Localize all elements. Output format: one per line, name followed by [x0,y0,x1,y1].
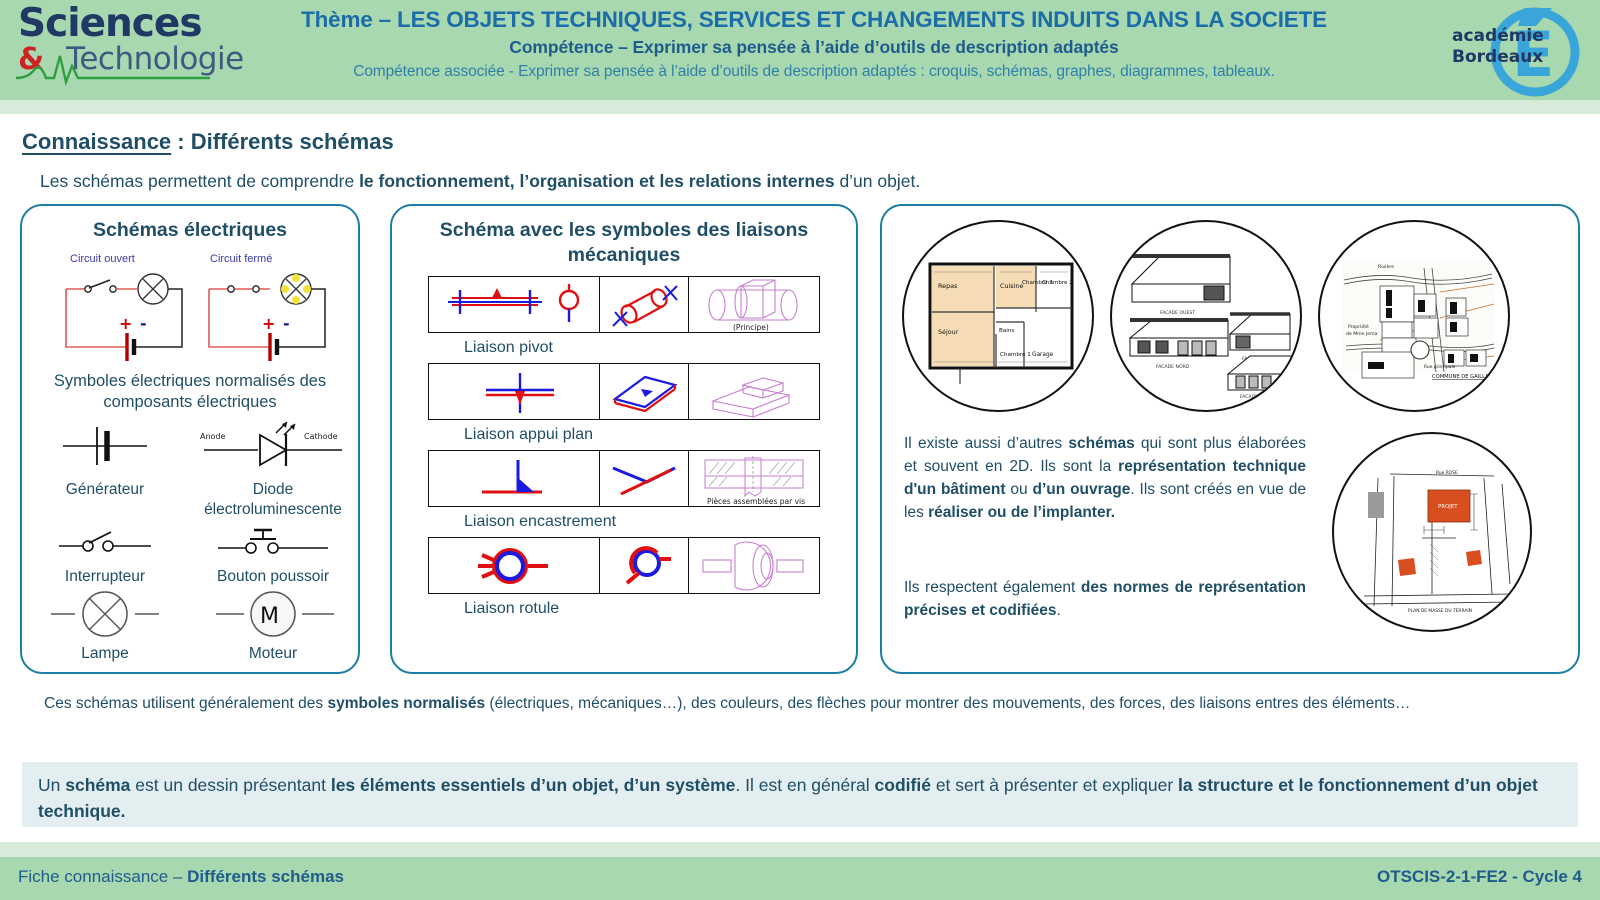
definition-box: Un schéma est un dessin présentant les é… [22,762,1578,827]
theme-prefix: Thème – [301,7,397,32]
def-t1: Un [38,775,65,795]
symbol-moteur: M Moteur [188,587,358,664]
rotule-symbol-icon [430,539,598,593]
footer-left-normal: Fiche connaissance – [18,867,187,886]
page-header: Sciences & Technologie Thème – LES OBJET… [0,0,1600,100]
room-chambre2: Chambre 2 [1042,280,1073,286]
svg-text:FACADE OUEST: FACADE OUEST [1160,310,1195,316]
note-t2: (électriques, mécaniques…), des couleurs… [485,695,1410,712]
liaison-rotule-perspective-cell [600,538,689,593]
note-t1: Ces schémas utilisent généralement des [44,695,327,712]
logo-sciences-label: Sciences [18,1,202,46]
rotule-perspective-icon [601,539,687,593]
intro-part-1: Les schémas permettent de comprendre [40,171,359,191]
note-b1: symboles normalisés [327,695,485,712]
academie-bordeaux-logo: E académie Bordeaux [1400,0,1600,100]
symbol-generateur-label: Générateur [22,480,188,500]
encastrement-perspective-icon [601,452,687,506]
definition-text: Un schéma est un dessin présentant les é… [22,762,1578,824]
liaison-encastrement-iso-cell: Pièces assemblées par vis [689,451,819,506]
liaison-rotule-caption: Liaison rotule [428,594,820,624]
paragraph-normes: Ils respectent également des normes de r… [904,576,1306,622]
pivot-perspective-icon [601,278,687,332]
circle-facades: FACADE OUEST FACADE SUD [1110,220,1302,412]
knowledge-title: : Différents schémas [171,129,394,154]
symbol-interrupteur-label: Interrupteur [22,567,188,587]
liaison-pivot-perspective-cell [600,277,689,332]
symbol-diode-label-2: électroluminescente [188,500,358,520]
motor-icon: M [188,587,358,639]
header-title-block: Thème – LES OBJETS TECHNIQUES, SERVICES … [228,0,1400,100]
para2-t2: . [1057,602,1061,619]
encastrement-note: Pièces assemblées par vis [707,497,805,506]
table-row: (Principe) [428,276,820,333]
para1-t3: ou [1006,481,1033,498]
cathode-label: Cathode [304,432,338,441]
screw-assembly-icon: Pièces assemblées par vis [689,452,819,506]
note-symboles-normalises: Ces schémas utilisent généralement des s… [44,692,1514,716]
theme-line: Thème – LES OBJETS TECHNIQUES, SERVICES … [228,6,1400,34]
table-row [428,537,820,594]
appui-plan-iso-icon [689,365,819,419]
room-repas: Repas [938,282,958,290]
panel-liaisons-mecaniques: Schéma avec les symboles des liaisons mé… [390,204,858,674]
footer-left-bold: Différents schémas [187,867,344,886]
map-street-label: Rue principale [1424,364,1456,370]
circuit-diagrams: Circuit ouvert Circuit fermé + [22,253,358,371]
panel-mecanique-title-line2: mécaniques [392,243,856,268]
liaisons-table: (Principe) Liaison pivot [428,276,820,624]
liaison-pivot-caption: Liaison pivot [428,333,820,363]
liaison-appui-iso-cell [689,364,819,419]
liaison-encastrement-symbol-cell [429,451,600,506]
symbols-caption-line2: composants électriques [22,392,358,413]
competence-associee-line: Compétence associée - Exprimer sa pensée… [228,60,1400,84]
para1-b1: schémas [1068,435,1134,452]
site-plan-icon: PROJET Rue ROSE PLAN DE MASSE DU TERRAIN [1334,434,1532,632]
symbol-diode-label-1: Diode [188,480,358,500]
logo-sciences-text: Sciences [18,4,218,44]
panel-mecanique-title: Schéma avec les symboles des liaisons mé… [392,206,856,268]
lamp-icon [25,587,185,639]
svg-text:Rue ROSE: Rue ROSE [1436,470,1458,476]
map-property-l1: Propriété [1348,323,1369,330]
symbol-bouton-poussoir: Bouton poussoir [188,520,358,587]
competence-line: Compétence – Exprimer sa pensée à l’aide… [228,34,1400,60]
intro-part-2: le fonctionnement, l’organisation et les… [359,171,835,191]
svg-text:-: - [140,314,147,333]
liaison-pivot-iso-cell: (Principe) [689,277,819,332]
theme-title: LES OBJETS TECHNIQUES, SERVICES ET CHANG… [397,7,1327,32]
para1-t1: Il existe aussi d’autres [904,435,1068,452]
symbol-lampe: Lampe [22,587,188,664]
liaison-pivot-symbol-cell [429,277,600,332]
switch-icon [25,520,185,562]
svg-text:FACADE NORD: FACADE NORD [1156,364,1190,370]
led-diode-icon: Anode Cathode [188,417,358,475]
svg-text:FACADE EST: FACADE EST [1240,394,1268,400]
encastrement-symbol-icon [430,452,598,506]
appui-plan-symbol-icon [430,365,598,419]
room-sejour: Séjour [938,328,959,336]
table-row [428,363,820,420]
pivot-symbol-icon [430,278,598,332]
circuit-svg: + - + [22,267,362,377]
intro-text: Les schémas permettent de comprendre le … [40,169,1340,193]
intro-part-3: d’un objet. [835,171,921,191]
footer-reference: OTSCIS-2-1-FE2 - Cycle 4 [1377,867,1582,887]
def-b2: les éléments essentiels d’un objet, d’un… [331,775,736,795]
map-commune-label: COMMUNE DE GAILLAC [1432,374,1493,380]
page-content: Connaissance : Différents schémas Les sc… [0,114,1600,842]
svg-text:+: + [262,314,275,333]
def-t2: est un dessin présentant [130,775,330,795]
para1-b3: d’un ouvrage [1033,481,1131,498]
generator-icon [25,417,185,475]
liaison-appui-symbol-cell [429,364,600,419]
symbol-generateur: Générateur [22,417,188,520]
def-t4: et sert à présenter et expliquer [931,775,1178,795]
footer-subband [0,842,1600,857]
para1-b4: réaliser ou de l’implanter. [928,504,1115,521]
liaison-rotule-iso-cell [689,538,819,593]
room-chambre1: Chambre 1 [1000,352,1031,358]
room-cuisine: Cuisine [1000,282,1023,290]
svg-text:-: - [283,314,290,333]
footer-left-text: Fiche connaissance – Différents schémas [18,867,344,887]
symbol-moteur-label: Moteur [188,644,358,664]
appui-plan-perspective-icon [601,365,687,419]
electrical-symbols-grid: Générateur Anode Cathode Diode électrolu… [22,417,358,664]
circle-plan-cadastral: Rivière Propriété de Mme Jema Rue princi… [1318,220,1510,412]
circle-plan-maison: Repas Cuisine Chambre 3 Chambre 2 Séjour… [902,220,1094,412]
cadastral-map-icon: Rivière Propriété de Mme Jema Rue princi… [1320,222,1510,412]
room-bains: Bains [999,328,1014,334]
academie-text: académie Bordeaux [1452,26,1544,68]
rotule-iso-icon [689,539,819,593]
para2-t1: Ils respectent également [904,579,1081,596]
page-footer: Fiche connaissance – Différents schémas … [0,857,1600,900]
liaison-appui-perspective-cell [600,364,689,419]
knowledge-label: Connaissance [22,129,171,154]
liaison-encastrement-caption: Liaison encastrement [428,507,820,537]
pivot-principe-note: (Principe) [733,323,769,332]
liaison-encastrement-perspective-cell [600,451,689,506]
anode-label: Anode [200,432,226,441]
panel-schemas-electriques: Schémas électriques Circuit ouvert Circu… [20,204,360,674]
elevations-icon: FACADE OUEST FACADE SUD [1112,222,1302,412]
page-title: Connaissance : Différents schémas [22,129,394,155]
def-t3: . Il est en général [735,775,874,795]
paragraph-autres-schemas: Il existe aussi d’autres schémas qui son… [904,432,1306,524]
academie-line1: académie [1452,26,1544,47]
floorplan-icon: Repas Cuisine Chambre 3 Chambre 2 Séjour… [904,222,1094,412]
sciences-technologie-logo: Sciences & Technologie [0,0,228,100]
academie-line2: Bordeaux [1452,47,1544,68]
header-subband [0,100,1600,114]
svg-text:PLAN DE MASSE DU TERRAIN: PLAN DE MASSE DU TERRAIN [1408,608,1472,614]
map-river-label: Rivière [1378,263,1394,270]
table-row: Pièces assemblées par vis [428,450,820,507]
circuit-closed-label: Circuit fermé [210,253,272,265]
push-button-icon [188,520,358,562]
panel-schemas-batiment: Repas Cuisine Chambre 3 Chambre 2 Séjour… [880,204,1580,674]
map-property-l2: de Mme Jema [1346,331,1378,337]
motor-letter: M [260,604,279,629]
symbols-caption: Symboles électriques normalisés des comp… [22,371,358,413]
symbol-bouton-poussoir-label: Bouton poussoir [188,567,358,587]
circuit-open-label: Circuit ouvert [70,253,135,265]
def-b1: schéma [65,775,130,795]
liaison-appui-caption: Liaison appui plan [428,420,820,450]
pivot-iso-icon: (Principe) [689,278,819,332]
panel-electric-title: Schémas électriques [22,206,358,243]
symbol-diode-led: Anode Cathode Diode électroluminescente [188,417,358,520]
def-b3: codifié [875,775,931,795]
site-projet-label: PROJET [1438,504,1458,510]
svg-text:+: + [119,314,132,333]
symbol-interrupteur: Interrupteur [22,520,188,587]
circle-plan-implantation: PROJET Rue ROSE PLAN DE MASSE DU TERRAIN [1332,432,1532,632]
room-garage: Garage [1032,352,1054,358]
panel-mecanique-title-line1: Schéma avec les symboles des liaisons [392,218,856,243]
symbol-lampe-label: Lampe [22,644,188,664]
liaison-rotule-symbol-cell [429,538,600,593]
ecg-line-icon [14,52,214,86]
